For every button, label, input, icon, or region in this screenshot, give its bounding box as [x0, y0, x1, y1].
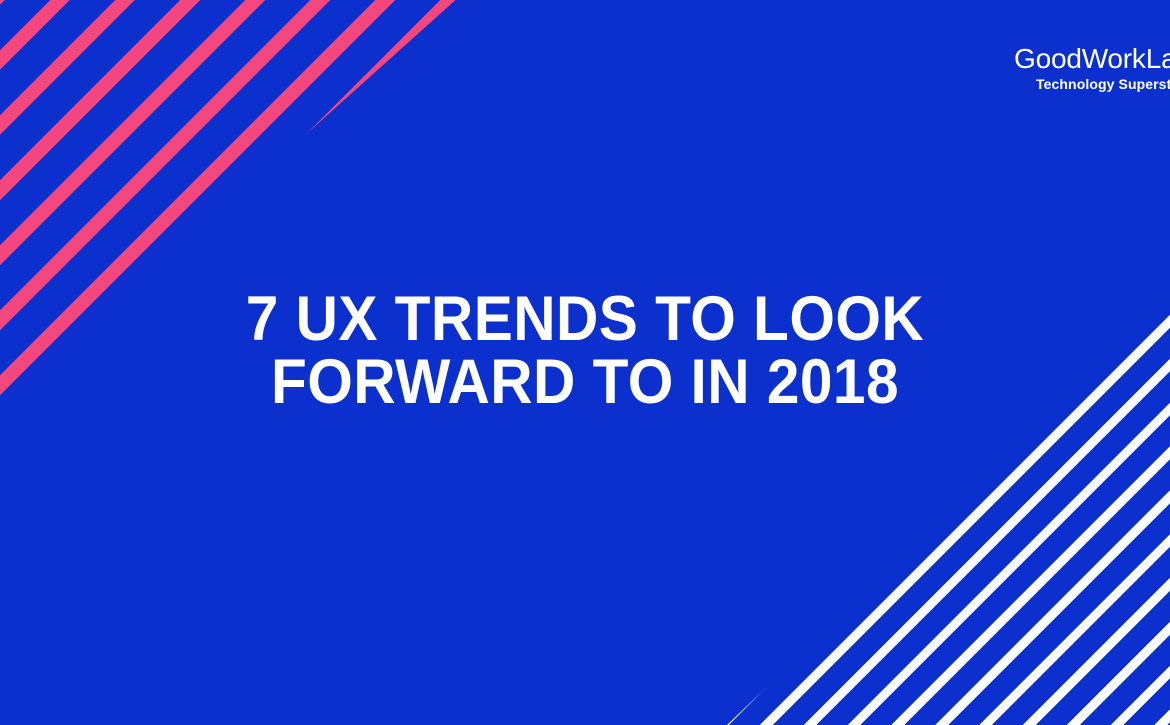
brand-tagline: Technology Superstars: [1036, 76, 1170, 93]
page-title: 7 UX TRENDS TO LOOK FORWARD TO IN 2018: [0, 288, 1170, 413]
brand-name: GoodWorkLabs: [1014, 44, 1170, 74]
page-title-line-2: FORWARD TO IN 2018: [41, 351, 1129, 413]
brand-logo: GoodWorkLabs Technology Superstars: [1014, 44, 1170, 93]
banner-canvas: GoodWorkLabs Technology Superstars 7 UX …: [0, 0, 1170, 725]
page-title-line-1: 7 UX TRENDS TO LOOK: [41, 288, 1129, 350]
diagonal-stripes-icon-pink: [0, 0, 580, 520]
